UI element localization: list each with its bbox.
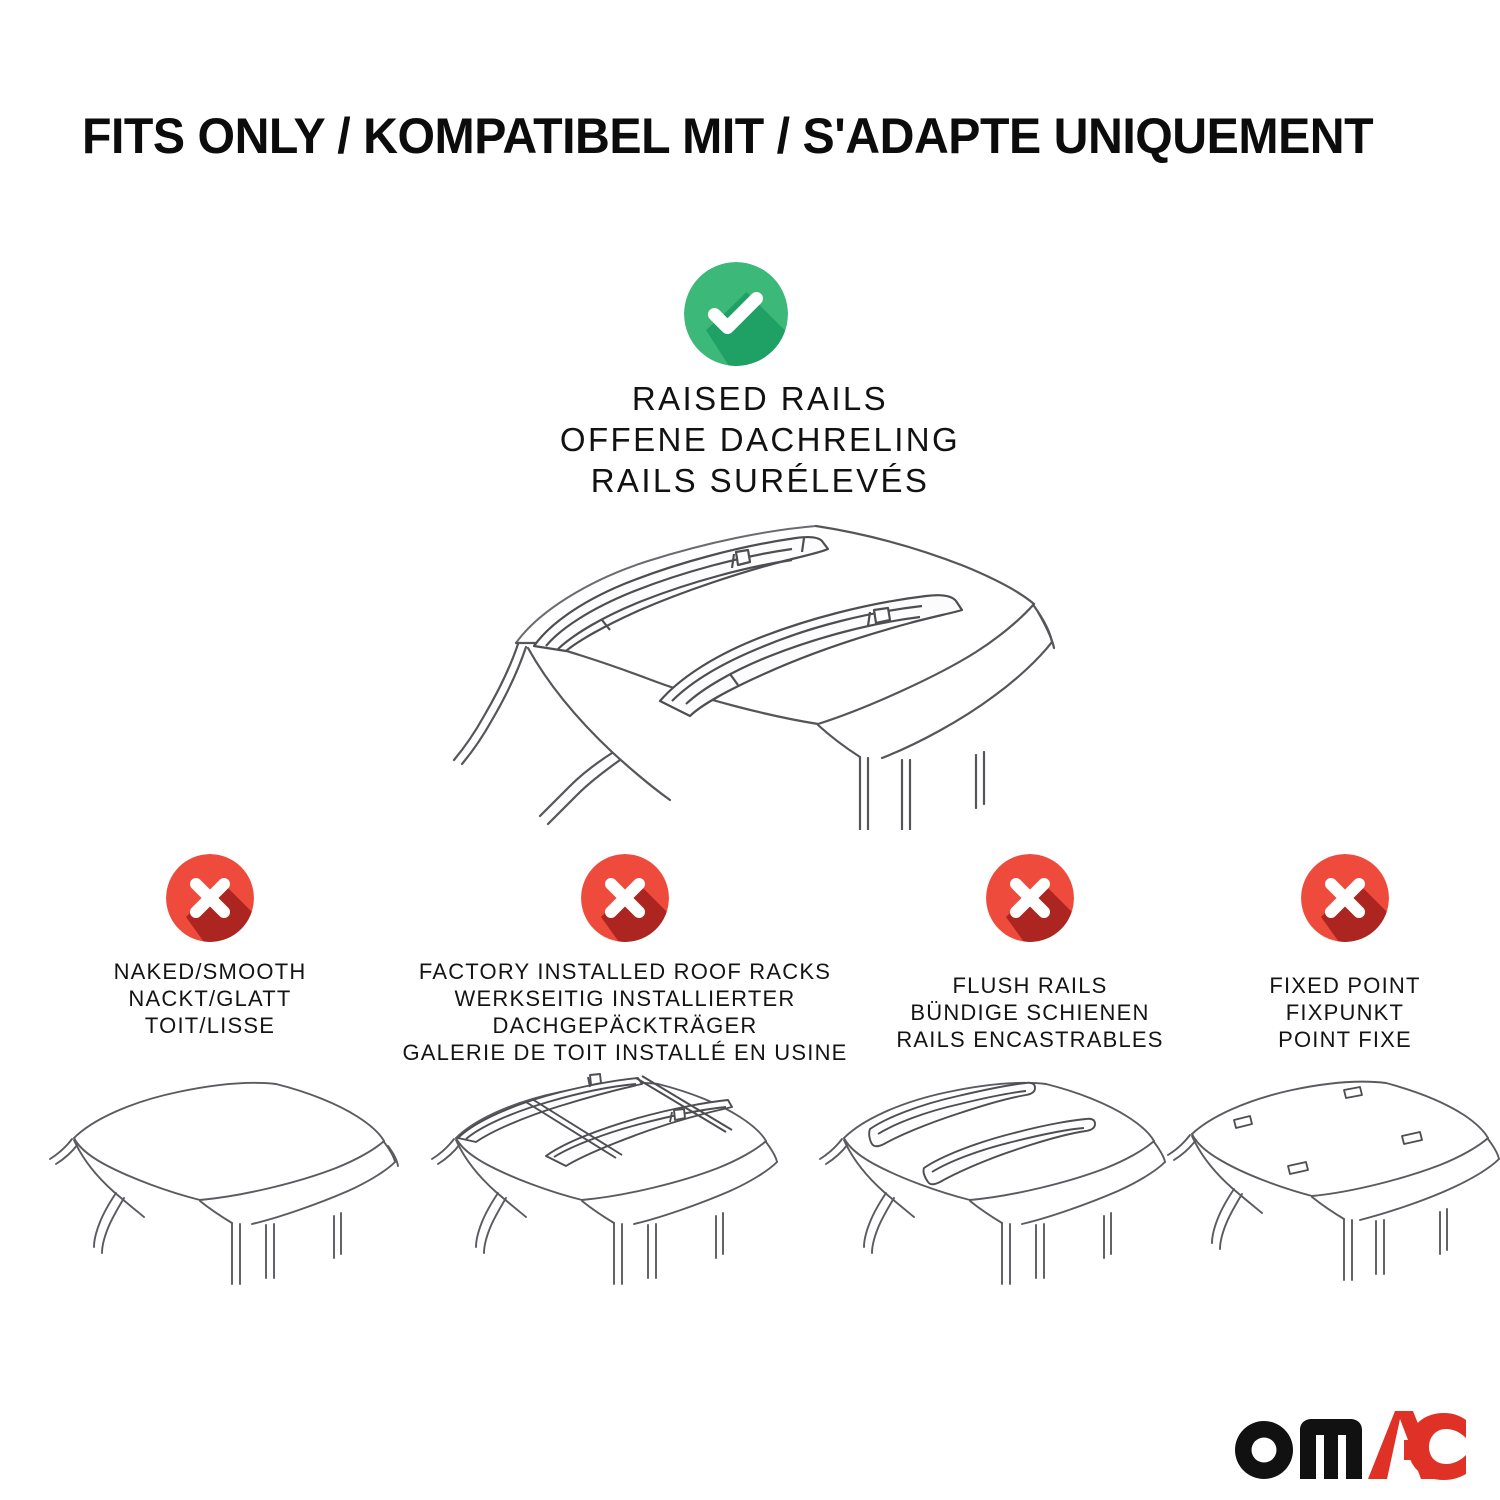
flush-rails-label-fr: RAILS ENCASTRABLES [855,1026,1205,1053]
factory-roof-racks-caption: FACTORY INSTALLED ROOF RACKS WERKSEITIG … [395,958,855,1066]
x-mark-glyph [166,854,254,942]
naked-smooth-caption: NAKED/SMOOTH NACKT/GLATT TOIT/LISSE [30,958,390,1039]
omac-logo [1228,1408,1466,1482]
check-circle-icon [684,262,788,366]
x-mark-glyph [1301,854,1389,942]
fixed-point-label-de: FIXPUNKT [1200,999,1490,1026]
factory-roof-racks-label-en: FACTORY INSTALLED ROOF RACKS [395,958,855,985]
fixed-point-label-en: FIXED POINT [1200,972,1490,999]
x-mark-glyph [986,854,1074,942]
raised-rails-label-de: OFFENE DACHRELING [450,419,1070,460]
car-roof-naked-smooth-illustration [38,1062,400,1294]
check-mark-glyph [684,262,788,366]
car-roof-with-raised-rails-illustration [398,508,1122,830]
naked-smooth-label-de: NACKT/GLATT [30,985,390,1012]
car-roof-factory-roof-racks-illustration [420,1062,782,1294]
x-mark-glyph [581,854,669,942]
naked-smooth-label-fr: TOIT/LISSE [30,1012,390,1039]
raised-rails-caption: RAISED RAILS OFFENE DACHRELING RAILS SUR… [450,378,1070,501]
car-roof-flush-rails-illustration [808,1062,1170,1294]
naked-smooth-label-en: NAKED/SMOOTH [30,958,390,985]
flush-rails-caption: FLUSH RAILS BÜNDIGE SCHIENEN RAILS ENCAS… [855,972,1205,1053]
raised-rails-label-fr: RAILS SURÉLEVÉS [450,460,1070,501]
logo-letter-m [1300,1419,1362,1479]
flush-rails-label-en: FLUSH RAILS [855,972,1205,999]
flush-rails-label-de: BÜNDIGE SCHIENEN [855,999,1205,1026]
logo-letter-o [1235,1421,1293,1479]
x-circle-icon [986,854,1074,942]
factory-roof-racks-label-de2: DACHGEPÄCKTRÄGER [395,1012,855,1039]
factory-roof-racks-label-de1: WERKSEITIG INSTALLIERTER [395,985,855,1012]
fixed-point-caption: FIXED POINT FIXPUNKT POINT FIXE [1200,972,1490,1053]
raised-rails-label-en: RAISED RAILS [450,378,1070,419]
fixed-point-label-fr: POINT FIXE [1200,1026,1490,1053]
x-circle-icon [581,854,669,942]
car-roof-fixed-point-illustration [1158,1062,1500,1294]
x-circle-icon [1301,854,1389,942]
page-title: FITS ONLY / KOMPATIBEL MIT / S'ADAPTE UN… [82,108,1375,164]
x-circle-icon [166,854,254,942]
raised-rail-near [660,595,962,716]
